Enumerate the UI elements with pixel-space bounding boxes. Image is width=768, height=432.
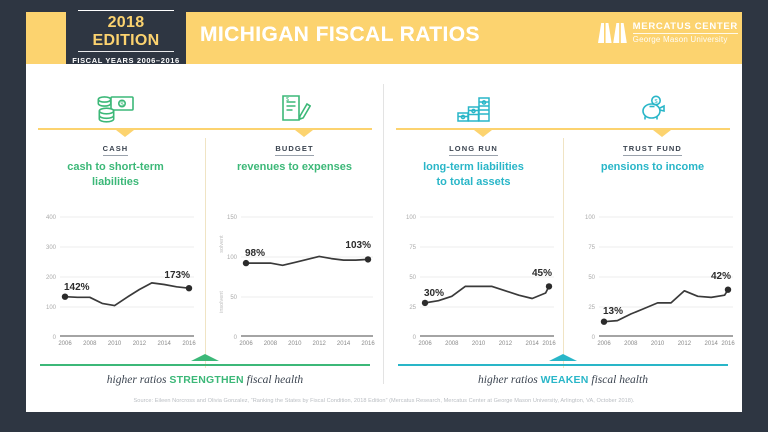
svg-text:100: 100 xyxy=(227,255,238,261)
right-banner-text: higher ratios WEAKEN fiscal health xyxy=(398,374,728,386)
value-end-trust-fund: 42% xyxy=(711,271,731,282)
svg-text:2012: 2012 xyxy=(133,341,147,347)
kicker-cash: CASH xyxy=(103,144,129,156)
infographic-poster: 2018 EDITION FISCAL YEARS 2006–2016 MICH… xyxy=(0,0,768,432)
svg-text:2008: 2008 xyxy=(83,341,97,347)
notch-cash xyxy=(116,130,134,137)
chart-trust-fund: 100 75 50 25 0 13% xyxy=(563,202,742,362)
left-banner-arrow-icon xyxy=(191,354,219,361)
cash-money-icon: $ xyxy=(97,94,135,124)
piggy-bank-icon: $ xyxy=(638,94,668,124)
svg-text:2006: 2006 xyxy=(597,341,611,347)
page-title: MICHIGAN FISCAL RATIOS xyxy=(200,23,480,47)
svg-text:2008: 2008 xyxy=(445,341,459,347)
svg-text:150: 150 xyxy=(227,215,238,221)
svg-text:2006: 2006 xyxy=(239,341,253,347)
notch-trust-fund xyxy=(653,130,671,137)
value-start-trust-fund: 13% xyxy=(603,306,623,317)
datapoint-start-long-run xyxy=(422,300,428,306)
ratio-label-trust-fund: pensions to income xyxy=(573,160,732,175)
chart-budget-svg: 150 100 50 0 solvent insolvent xyxy=(205,202,384,362)
value-start-cash: 142% xyxy=(64,282,90,293)
left-icons-row: $ $ xyxy=(26,82,384,124)
svg-text:$: $ xyxy=(654,99,657,105)
icon-cell-budget: $ xyxy=(205,82,384,124)
svg-text:2008: 2008 xyxy=(624,341,638,347)
svg-text:2016: 2016 xyxy=(721,341,735,347)
kicker-long-run: LONG RUN xyxy=(449,144,498,156)
right-banner-prefix: higher ratios xyxy=(478,374,541,386)
svg-text:$: $ xyxy=(286,97,289,103)
ratio-trust-fund-line1: pensions to income xyxy=(601,161,704,173)
notch-long-run xyxy=(474,130,492,137)
svg-text:2010: 2010 xyxy=(651,341,665,347)
svg-text:2014: 2014 xyxy=(337,341,351,347)
svg-text:0: 0 xyxy=(413,335,417,341)
content-sheet: $ $ xyxy=(26,64,742,412)
icon-cell-long-run xyxy=(384,82,563,124)
right-banner-line xyxy=(398,364,728,366)
ratio-cash-line1: cash to short-term xyxy=(67,161,164,173)
brand-lockup: MERCATUS CENTER George Mason University xyxy=(597,22,738,44)
datapoint-start-cash xyxy=(62,294,68,300)
axis-note-solvent: solvent xyxy=(219,235,225,253)
svg-text:2008: 2008 xyxy=(264,341,278,347)
brand-name: MERCATUS CENTER xyxy=(633,22,738,32)
svg-text:2012: 2012 xyxy=(499,341,513,347)
datapoint-end-long-run xyxy=(546,283,552,289)
svg-text:2006: 2006 xyxy=(418,341,432,347)
chart-long-run-svg: 100 75 50 25 0 30% xyxy=(384,202,563,362)
svg-text:75: 75 xyxy=(588,245,595,251)
svg-text:0: 0 xyxy=(53,335,57,341)
right-yellow-divider xyxy=(396,128,730,130)
datapoint-end-cash xyxy=(186,285,192,291)
icon-cell-cash: $ xyxy=(26,82,205,124)
svg-text:400: 400 xyxy=(46,215,57,221)
svg-text:2014: 2014 xyxy=(705,341,719,347)
svg-text:0: 0 xyxy=(234,335,238,341)
svg-text:50: 50 xyxy=(230,295,237,301)
left-banner-text: higher ratios STRENGTHEN fiscal health xyxy=(40,374,370,386)
left-banner-line xyxy=(40,364,370,366)
brand-subtitle: George Mason University xyxy=(633,36,738,44)
datapoint-end-trust-fund xyxy=(725,287,731,293)
datapoint-end-budget xyxy=(365,256,371,262)
left-banner-suffix: fiscal health xyxy=(244,374,303,386)
ratio-label-budget: revenues to expenses xyxy=(215,160,374,175)
svg-text:2016: 2016 xyxy=(542,341,556,347)
svg-text:2014: 2014 xyxy=(158,341,172,347)
chart-budget: 150 100 50 0 solvent insolvent xyxy=(205,202,384,362)
chart-long-run: 100 75 50 25 0 30% xyxy=(384,202,563,362)
svg-text:100: 100 xyxy=(46,305,57,311)
value-start-long-run: 30% xyxy=(424,288,444,299)
value-end-long-run: 45% xyxy=(532,268,552,279)
svg-text:50: 50 xyxy=(588,275,595,281)
svg-text:200: 200 xyxy=(46,275,57,281)
svg-text:2006: 2006 xyxy=(58,341,72,347)
svg-text:75: 75 xyxy=(409,245,416,251)
stacked-bills-bar-icon xyxy=(456,94,492,124)
ratio-label-cash: cash to short-term liabilities xyxy=(36,160,195,190)
value-end-budget: 103% xyxy=(345,240,371,251)
left-banner-prefix: higher ratios xyxy=(107,374,170,386)
right-half-weaken: $ LONG RUN TRUST FUND xyxy=(384,64,742,412)
left-charts-row: 400 300 200 100 0 xyxy=(26,202,384,362)
ratio-cash-line2: liabilities xyxy=(92,176,139,188)
chart-cash: 400 300 200 100 0 xyxy=(26,202,205,362)
ribbon-rule-bottom xyxy=(78,51,174,52)
budget-document-icon: $ xyxy=(279,94,311,124)
svg-text:2016: 2016 xyxy=(182,341,196,347)
svg-text:100: 100 xyxy=(406,215,417,221)
ratio-label-long-run: long-term liabilities to total assets xyxy=(394,160,553,190)
value-end-cash: 173% xyxy=(164,270,190,281)
datapoint-start-budget xyxy=(243,260,249,266)
svg-text:100: 100 xyxy=(585,215,596,221)
svg-text:25: 25 xyxy=(588,305,595,311)
header: 2018 EDITION FISCAL YEARS 2006–2016 MICH… xyxy=(0,0,768,70)
ratio-long-run-line2: to total assets xyxy=(437,176,511,188)
svg-text:2014: 2014 xyxy=(526,341,540,347)
kicker-budget: BUDGET xyxy=(275,144,313,156)
svg-text:25: 25 xyxy=(409,305,416,311)
left-half-strengthen: $ $ xyxy=(26,64,384,412)
datapoint-start-trust-fund xyxy=(601,319,607,325)
icon-cell-trust-fund: $ xyxy=(563,82,742,124)
svg-text:2012: 2012 xyxy=(313,341,327,347)
chart-trust-fund-svg: 100 75 50 25 0 13% xyxy=(563,202,742,362)
right-banner-emphasis: WEAKEN xyxy=(541,374,589,386)
edition-ribbon: 2018 EDITION FISCAL YEARS 2006–2016 xyxy=(66,0,186,72)
ratio-budget-line1: revenues to expenses xyxy=(237,161,352,173)
right-charts-row: 100 75 50 25 0 30% xyxy=(384,202,742,362)
svg-text:300: 300 xyxy=(46,245,57,251)
mercatus-logo-icon xyxy=(597,22,627,44)
right-icons-row: $ xyxy=(384,82,742,124)
notch-budget xyxy=(295,130,313,137)
left-yellow-divider xyxy=(38,128,372,130)
left-banner-emphasis: STRENGTHEN xyxy=(169,374,243,386)
right-banner-suffix: fiscal health xyxy=(589,374,648,386)
ratio-long-run-line1: long-term liabilities xyxy=(423,161,524,173)
svg-text:2010: 2010 xyxy=(288,341,302,347)
right-banner-arrow-icon xyxy=(549,354,577,361)
svg-text:2012: 2012 xyxy=(678,341,692,347)
chart-cash-svg: 400 300 200 100 0 xyxy=(26,202,205,362)
source-citation: Source: Eileen Norcross and Olivia Gonza… xyxy=(26,398,742,404)
kicker-trust-fund: TRUST FUND xyxy=(623,144,682,156)
edition-label: 2018 EDITION xyxy=(72,11,180,51)
svg-text:50: 50 xyxy=(409,275,416,281)
svg-text:0: 0 xyxy=(592,335,596,341)
value-start-budget: 98% xyxy=(245,248,265,259)
svg-text:2016: 2016 xyxy=(361,341,375,347)
svg-text:2010: 2010 xyxy=(108,341,122,347)
svg-text:2010: 2010 xyxy=(472,341,486,347)
axis-note-insolvent: insolvent xyxy=(219,291,225,313)
